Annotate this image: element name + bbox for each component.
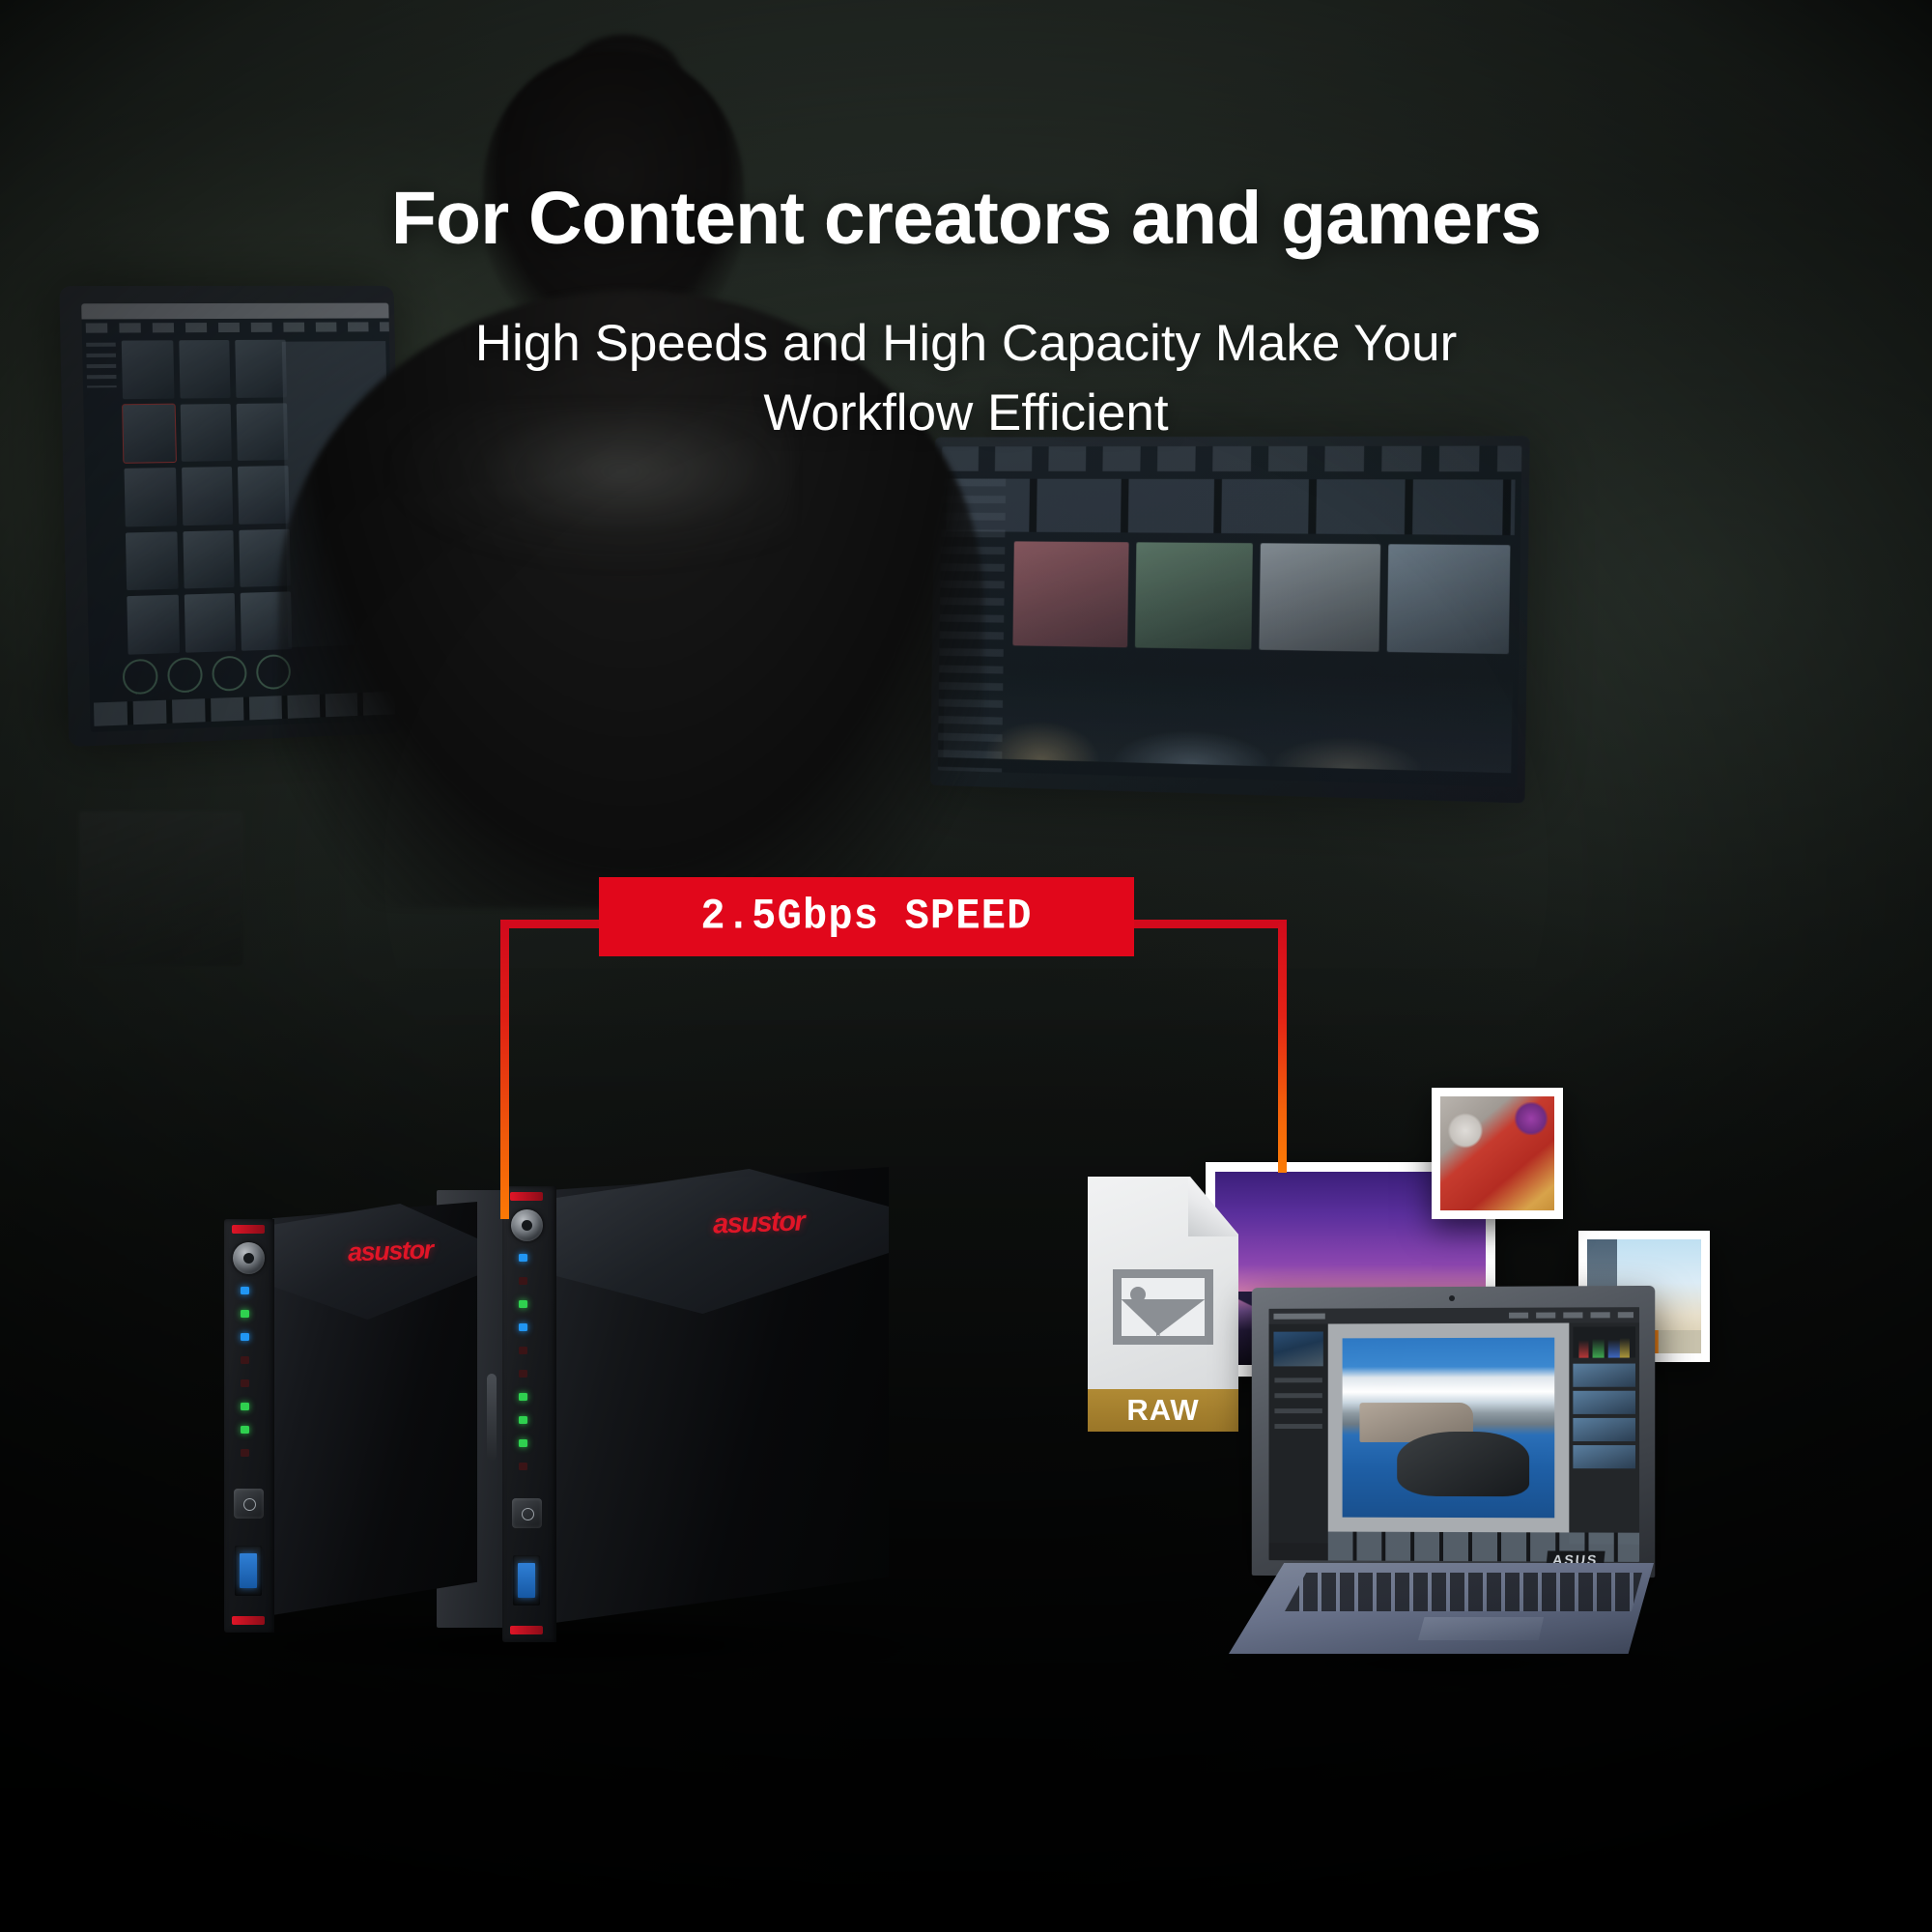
led-indicator-disk <box>519 1393 527 1401</box>
nas-left-brand-logo: asustor <box>347 1235 433 1267</box>
editor-photo-crater-lake <box>1343 1338 1555 1518</box>
led-indicator-off <box>241 1449 249 1457</box>
nas-left-dial-icon <box>233 1242 265 1274</box>
nas-left-usb-port <box>235 1546 262 1596</box>
speed-badge: 2.5Gbps SPEED <box>599 877 1134 956</box>
editor-navigator-thumbnail <box>1273 1331 1322 1366</box>
led-indicator-power <box>519 1254 527 1262</box>
photo-portrait-red-leaves <box>1432 1088 1563 1219</box>
laptop-trackpad <box>1418 1617 1544 1640</box>
editor-menubar <box>1269 1307 1640 1324</box>
connector-left-vertical <box>500 927 509 1219</box>
led-indicator-off <box>241 1379 249 1387</box>
nas-right-top-accent <box>510 1192 543 1201</box>
laptop-device: ASUS <box>1229 1287 1654 1654</box>
led-indicator-disk <box>241 1426 249 1434</box>
file-format-band: RAW <box>1088 1389 1238 1432</box>
mountain-icon <box>1122 1299 1205 1336</box>
nas-left-power-button[interactable] <box>234 1489 264 1519</box>
nas-right-usb-port <box>513 1555 540 1605</box>
page-subheadline-line-2: Workflow Efficient <box>425 379 1507 448</box>
led-indicator-disk <box>519 1439 527 1447</box>
nas-device-right: asustor <box>502 1186 889 1642</box>
editor-panel-row <box>1274 1408 1321 1413</box>
nas-left-bottom-accent <box>232 1616 265 1625</box>
nas-left-front-panel <box>224 1219 274 1633</box>
editor-thumb <box>1573 1391 1635 1414</box>
editor-panel-row <box>1274 1378 1321 1382</box>
led-indicator-power <box>241 1287 249 1294</box>
laptop-lid: ASUS <box>1252 1286 1655 1577</box>
subheadline-container: High Speeds and High Capacity Make Your … <box>425 309 1507 448</box>
editor-canvas <box>1328 1323 1570 1533</box>
led-indicator-off <box>519 1370 527 1378</box>
led-indicator-lan <box>241 1333 249 1341</box>
nas-right-dial-icon <box>511 1209 543 1241</box>
page-headline: For Content creators and gamers <box>0 182 1932 256</box>
editor-panel-row <box>1274 1424 1321 1429</box>
nas-left-led-column <box>238 1287 261 1472</box>
raw-file-icon: RAW <box>1088 1177 1238 1399</box>
laptop-keyboard <box>1285 1573 1642 1611</box>
file-format-label: RAW <box>1126 1393 1199 1428</box>
connector-left-horizontal <box>500 920 607 928</box>
connector-right-horizontal <box>1126 920 1287 928</box>
led-indicator-lan <box>519 1323 527 1331</box>
editor-panel-row <box>1274 1393 1321 1398</box>
promo-banner: For Content creators and gamers High Spe… <box>0 0 1932 1932</box>
led-indicator-off <box>519 1347 527 1354</box>
editor-thumb <box>1573 1418 1635 1441</box>
laptop-screen <box>1269 1307 1640 1562</box>
led-indicator-disk <box>241 1403 249 1410</box>
editor-thumb <box>1573 1445 1635 1468</box>
histogram-widget <box>1573 1326 1635 1357</box>
editor-right-panel <box>1569 1322 1639 1545</box>
nas-device-left: asustor <box>224 1219 477 1633</box>
headline-container: For Content creators and gamers <box>0 182 1932 256</box>
webcam-icon <box>1449 1295 1455 1301</box>
nas-left-top-accent <box>232 1225 265 1234</box>
nas-right-front-panel <box>502 1186 556 1642</box>
nas-right-brand-logo: asustor <box>712 1206 804 1240</box>
led-indicator-off <box>519 1463 527 1470</box>
led-indicator-disk <box>519 1416 527 1424</box>
led-indicator-off <box>519 1277 527 1285</box>
photo-portrait-image <box>1440 1096 1554 1210</box>
page-subheadline-line-1: High Speeds and High Capacity Make Your <box>425 309 1507 379</box>
editor-left-panel <box>1269 1324 1328 1544</box>
led-indicator-disk <box>241 1310 249 1318</box>
speed-badge-label: 2.5Gbps SPEED <box>700 893 1032 942</box>
connector-right-vertical <box>1278 920 1287 1173</box>
nas-right-led-column <box>516 1254 539 1486</box>
led-indicator-off <box>241 1356 249 1364</box>
image-placeholder-icon <box>1113 1269 1213 1345</box>
led-indicator-disk <box>519 1300 527 1308</box>
editor-thumb <box>1573 1364 1635 1387</box>
nas-right-bottom-accent <box>510 1626 543 1634</box>
nas-right-power-button[interactable] <box>512 1498 542 1528</box>
